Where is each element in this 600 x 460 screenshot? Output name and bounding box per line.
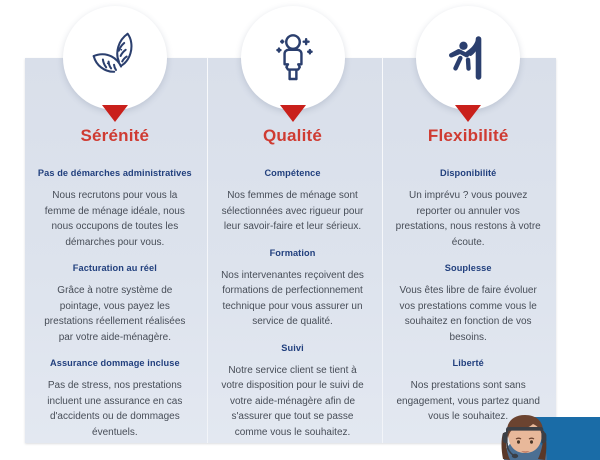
gymnast-stretch-icon-badge	[416, 6, 520, 110]
gymnast-stretch-icon	[439, 29, 497, 87]
feature-text: Grâce à notre système de pointage, vous …	[37, 283, 193, 345]
person-sparkle-icon	[263, 28, 323, 88]
feature-subtitle: Facturation au réel	[37, 263, 193, 273]
column-body: Disponibilité Un imprévu ? vous pouvez r…	[380, 168, 556, 425]
feature-text: Nos intervenantes reçoivent des formatio…	[217, 268, 369, 330]
feature-text: Un imprévu ? vous pouvez reporter ou ann…	[392, 188, 544, 250]
feature-subtitle: Compétence	[217, 168, 369, 178]
feature-column-serenite: Sérénité Pas de démarches administrative…	[25, 58, 205, 443]
customer-service-agent-photo	[494, 413, 556, 460]
column-title: Flexibilité	[380, 126, 556, 146]
infographic-canvas: Sérénité Pas de démarches administrative…	[0, 0, 600, 460]
feature-column-qualite: Qualité Compétence Nos femmes de ménage …	[205, 58, 381, 443]
column-body: Compétence Nos femmes de ménage sont sél…	[205, 168, 381, 440]
feature-block: Souplesse Vous êtes libre de faire évolu…	[392, 263, 544, 345]
feature-block: Assurance dommage incluse Pas de stress,…	[37, 358, 193, 440]
feature-block: Formation Nos intervenantes reçoivent de…	[217, 248, 369, 330]
feature-subtitle: Suivi	[217, 343, 369, 353]
feature-subtitle: Assurance dommage incluse	[37, 358, 193, 368]
feature-text: Pas de stress, nos prestations incluent …	[37, 378, 193, 440]
columns-container: Sérénité Pas de démarches administrative…	[25, 58, 556, 443]
column-body: Pas de démarches administratives Nous re…	[25, 168, 205, 440]
feature-subtitle: Formation	[217, 248, 369, 258]
column-title: Sérénité	[25, 126, 205, 146]
column-title: Qualité	[205, 126, 381, 146]
feature-subtitle: Disponibilité	[392, 168, 544, 178]
feature-text: Notre service client se tient à votre di…	[217, 363, 369, 441]
feature-block: Suivi Notre service client se tient à vo…	[217, 343, 369, 441]
wings-icon-badge	[63, 6, 167, 110]
feature-subtitle: Liberté	[392, 358, 544, 368]
feature-text: Nos femmes de ménage sont sélectionnées …	[217, 188, 369, 235]
feature-block: Facturation au réel Grâce à notre systèm…	[37, 263, 193, 345]
column-pointer-triangle	[455, 105, 481, 122]
column-pointer-triangle	[280, 105, 306, 122]
feature-subtitle: Souplesse	[392, 263, 544, 273]
feature-subtitle: Pas de démarches administratives	[37, 168, 193, 178]
feature-block: Disponibilité Un imprévu ? vous pouvez r…	[392, 168, 544, 250]
person-sparkle-icon-badge	[241, 6, 345, 110]
feature-text: Nous recrutons pour vous la femme de mén…	[37, 188, 193, 250]
column-pointer-triangle	[102, 105, 128, 122]
feature-column-flexibilite: Flexibilité Disponibilité Un imprévu ? v…	[380, 58, 556, 443]
feature-block: Compétence Nos femmes de ménage sont sél…	[217, 168, 369, 235]
feature-block: Pas de démarches administratives Nous re…	[37, 168, 193, 250]
wings-icon	[84, 27, 146, 89]
feature-text: Vous êtes libre de faire évoluer vos pre…	[392, 283, 544, 345]
